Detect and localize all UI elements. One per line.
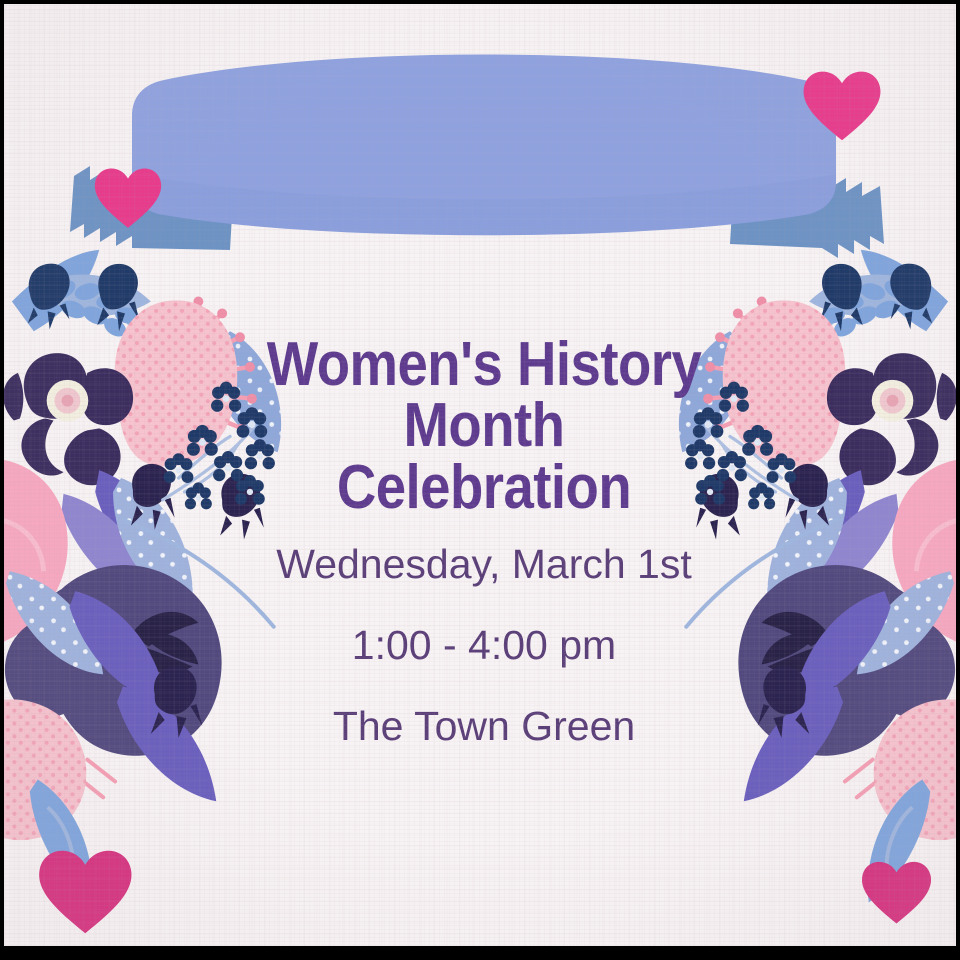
- event-time: 1:00 - 4:00 pm: [164, 625, 804, 666]
- poster-canvas: HAPPY WOMEN'S HISTORY MONTH! Women's His…: [0, 0, 960, 960]
- event-date: Wednesday, March 1st: [164, 544, 804, 585]
- page-title: Women's History Month Celebration: [202, 334, 765, 518]
- event-details-block: Women's History Month Celebration Wednes…: [164, 334, 804, 747]
- title-line-2: Celebration: [337, 453, 631, 522]
- content-layer: Women's History Month Celebration Wednes…: [4, 4, 960, 960]
- title-line-1: Women's History Month: [267, 330, 702, 460]
- event-location: The Town Green: [164, 706, 804, 747]
